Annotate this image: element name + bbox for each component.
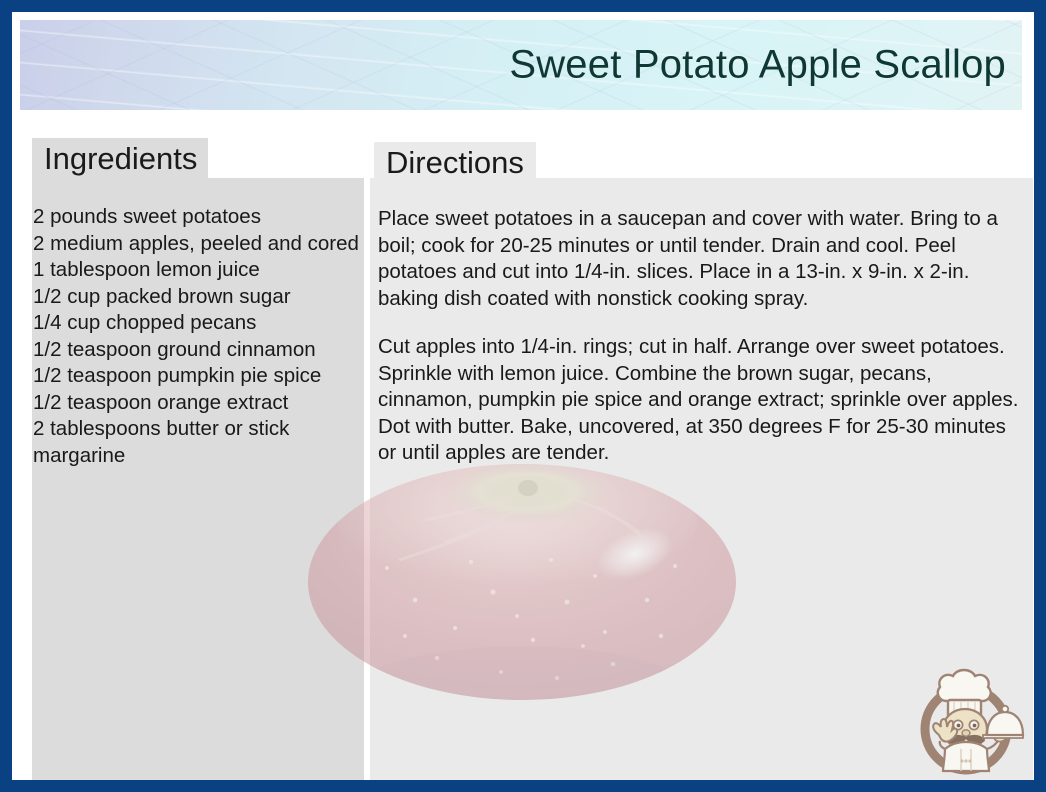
ingredient-item: 2 tablespoons butter or stick margarine [33,416,359,469]
chef-mascot-logo [909,657,1027,779]
ingredient-item: 1/2 teaspoon ground cinnamon [33,337,359,364]
ingredient-item: 2 pounds sweet potatoes [33,204,359,231]
ingredient-item: 1/2 teaspoon pumpkin pie spice [33,363,359,390]
ingredient-item: 1/2 teaspoon orange extract [33,390,359,417]
ingredients-heading: Ingredients [32,138,208,180]
ingredient-item: 1/2 cup packed brown sugar [33,284,359,311]
recipe-card: Sweet Potato Apple Scallop [0,0,1046,792]
page-title: Sweet Potato Apple Scallop [509,43,1006,88]
title-banner: Sweet Potato Apple Scallop [20,20,1022,110]
ingredient-item: 2 medium apples, peeled and cored [33,231,359,258]
directions-heading: Directions [374,142,536,184]
direction-paragraph: Cut apples into 1/4-in. rings; cut in ha… [378,334,1026,467]
ingredient-item: 1 tablespoon lemon juice [33,257,359,284]
ingredients-list: 2 pounds sweet potatoes2 medium apples, … [33,204,359,469]
ingredient-item: 1/4 cup chopped pecans [33,310,359,337]
direction-paragraph: Place sweet potatoes in a saucepan and c… [378,206,1026,312]
directions-text: Place sweet potatoes in a saucepan and c… [378,206,1026,467]
